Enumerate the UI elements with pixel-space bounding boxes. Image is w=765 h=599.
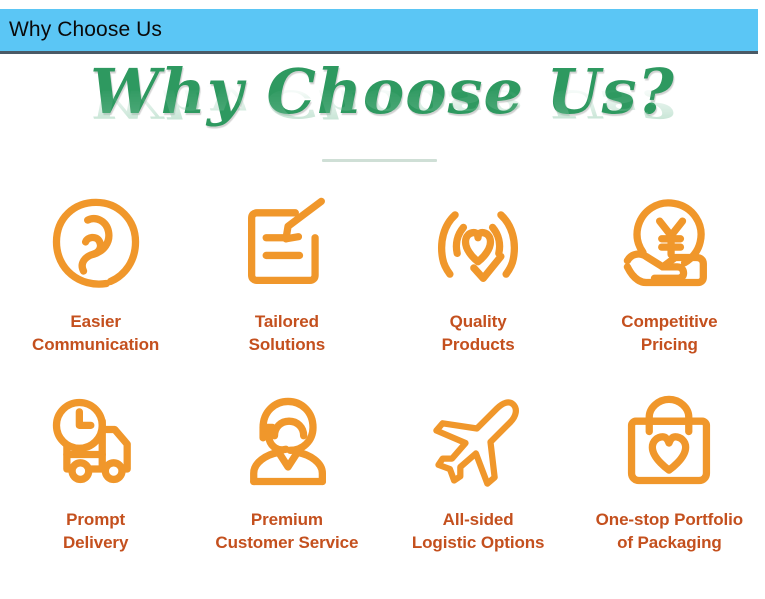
main-content: Why Choose Us? Why Choose Us? Easier Com… — [0, 57, 765, 599]
page-title: Why Choose Us — [0, 18, 162, 42]
feature-label: Tailored Solutions — [249, 310, 326, 356]
airplane-icon — [426, 390, 530, 494]
feature-label: Quality Products — [442, 310, 515, 356]
feature-item-competitive-pricing[interactable]: Competitive Pricing — [574, 192, 765, 356]
feature-item-all-sided-logistic-options[interactable]: All-sided Logistic Options — [383, 390, 574, 554]
hero-wordart: Why Choose Us? Why Choose Us? — [0, 57, 765, 127]
feature-label: All-sided Logistic Options — [412, 508, 545, 554]
delivery-truck-clock-icon — [44, 390, 148, 494]
ear-listening-icon — [44, 192, 148, 296]
document-pencil-icon — [235, 192, 339, 296]
app-header-bar: Why Choose Us — [0, 9, 758, 54]
headset-agent-icon — [235, 390, 339, 494]
hero-title-reflection: Why Choose Us? — [0, 82, 765, 125]
feature-item-tailored-solutions[interactable]: Tailored Solutions — [191, 192, 382, 356]
feature-item-premium-customer-service[interactable]: Premium Customer Service — [191, 390, 382, 554]
feature-label: One-stop Portfolio of Packaging — [596, 508, 743, 554]
feature-label: Competitive Pricing — [621, 310, 717, 356]
hand-yen-coin-icon — [617, 192, 721, 296]
feature-item-quality-products[interactable]: Quality Products — [383, 192, 574, 356]
feature-row-2: Prompt Delivery Premium Customer Service — [0, 390, 765, 554]
feature-row-1: Easier Communication Tailored Solutions — [0, 192, 765, 356]
hero-divider — [322, 159, 437, 162]
feature-item-prompt-delivery[interactable]: Prompt Delivery — [0, 390, 191, 554]
hero-banner: Why Choose Us? Why Choose Us? — [0, 57, 765, 165]
feature-item-one-stop-portfolio[interactable]: One-stop Portfolio of Packaging — [574, 390, 765, 554]
feature-label: Premium Customer Service — [215, 508, 358, 554]
feature-label: Easier Communication — [32, 310, 159, 356]
heart-check-soundwaves-icon — [426, 192, 530, 296]
shopping-bag-heart-icon — [617, 390, 721, 494]
feature-item-easier-communication[interactable]: Easier Communication — [0, 192, 191, 356]
feature-label: Prompt Delivery — [63, 508, 128, 554]
